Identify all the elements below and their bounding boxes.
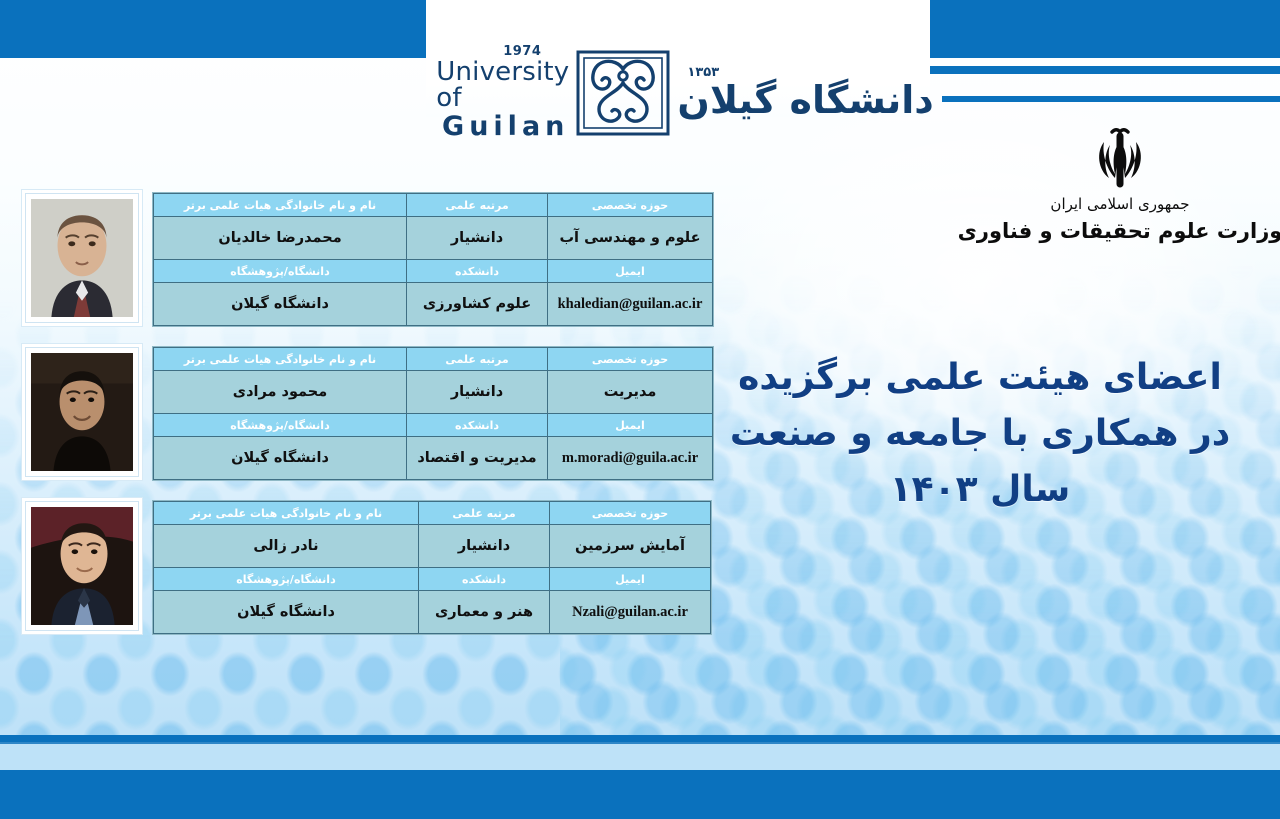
faculty-table: حوزه تخصصی مرتبه علمی نام و نام خانوادگی… [153,501,711,634]
cell-institution: دانشگاه گیلان [154,591,419,634]
header-name: نام و نام خانوادگی هیات علمی برتر [154,348,407,371]
logo-english-text: 1974 University of Guilan [436,45,569,140]
header-faculty: دانشکده [419,568,550,591]
table-row: khaledian@guilan.ac.ir علوم کشاورزی دانش… [154,283,713,326]
cell-field: آمایش سرزمین [550,525,711,568]
header-faculty: دانشکده [407,414,548,437]
table-row: m.moradi@guila.ac.ir مدیریت و اقتصاد دان… [154,437,713,480]
faculty-photo-frame [25,347,139,477]
logo-university-of: University of [436,59,569,111]
table-row: ایمیل دانشکده دانشگاه/پژوهشگاه [154,568,711,591]
cell-field: مدیریت [548,371,713,414]
faculty-photo-frame [25,501,139,631]
cell-faculty: هنر و معماری [419,591,550,634]
header-rank: مرتبه علمی [419,502,550,525]
accent-bar-lower [942,96,1280,102]
header-institution: دانشگاه/پژوهشگاه [154,568,419,591]
iran-national-emblem-icon [1084,128,1156,190]
cell-institution: دانشگاه گیلان [154,283,407,326]
bottom-bar [0,770,1280,819]
page-title-line-2: در همکاری با جامعه و صنعت [720,406,1240,462]
table-row: مدیریت دانشیار محمود مرادی [154,371,713,414]
header-field: حوزه تخصصی [548,194,713,217]
cell-name: محمود مرادی [154,371,407,414]
cell-rank: دانشیار [407,371,548,414]
header-rank: مرتبه علمی [407,348,548,371]
bottom-rule [0,735,1280,742]
cell-name: نادر زالی [154,525,419,568]
header-field: حوزه تخصصی [550,502,711,525]
logo-persian-name: دانشگاه گیلان [677,81,933,119]
cell-faculty: مدیریت و اقتصاد [407,437,548,480]
header-field: حوزه تخصصی [548,348,713,371]
table-row: حوزه تخصصی مرتبه علمی نام و نام خانوادگی… [154,502,711,525]
table-row: حوزه تخصصی مرتبه علمی نام و نام خانوادگی… [154,348,713,371]
ministry-line-1: جمهوری اسلامی ایران [1050,195,1189,213]
cell-rank: دانشیار [419,525,550,568]
table-row: آمایش سرزمین دانشیار نادر زالی [154,525,711,568]
table-row: Nzali@guilan.ac.ir هنر و معماری دانشگاه … [154,591,711,634]
ministry-line-2: وزارت علوم تحقیقات و فناوری [958,219,1280,243]
header-rank: مرتبه علمی [407,194,548,217]
university-logo: 1974 University of Guilan ۱۳۵۳ دانشگاه گ… [470,40,900,145]
table-row: ایمیل دانشکده دانشگاه/پژوهشگاه [154,414,713,437]
faculty-card: حوزه تخصصی مرتبه علمی نام و نام خانوادگی… [25,501,711,634]
bottom-rule-secondary [0,742,1280,744]
ministry-emblem-block: جمهوری اسلامی ایران وزارت علوم تحقیقات و… [986,128,1254,243]
page-title-line-3: سال ۱۴۰۳ [720,462,1240,518]
table-row: علوم و مهندسی آب دانشیار محمدرضا خالدیان [154,217,713,260]
cell-faculty: علوم کشاورزی [407,283,548,326]
faculty-card: حوزه تخصصی مرتبه علمی نام و نام خانوادگی… [25,193,713,326]
cell-rank: دانشیار [407,217,548,260]
accent-bar-upper [930,66,1280,74]
faculty-card: حوزه تخصصی مرتبه علمی نام و نام خانوادگی… [25,347,713,480]
faculty-table: حوزه تخصصی مرتبه علمی نام و نام خانوادگی… [153,347,713,480]
cell-email[interactable]: m.moradi@guila.ac.ir [548,437,713,480]
table-row: ایمیل دانشکده دانشگاه/پژوهشگاه [154,260,713,283]
header-email: ایمیل [548,260,713,283]
page-title-line-1: اعضای هیئت علمی برگزیده [720,350,1240,406]
poster-canvas: 1974 University of Guilan ۱۳۵۳ دانشگاه گ… [0,0,1280,819]
cell-name: محمدرضا خالدیان [154,217,407,260]
header-faculty: دانشکده [407,260,548,283]
photo-mahmoud-moradi [31,353,133,471]
header-name: نام و نام خانوادگی هیات علمی برتر [154,502,419,525]
cell-field: علوم و مهندسی آب [548,217,713,260]
header-institution: دانشگاه/پژوهشگاه [154,260,407,283]
header-email: ایمیل [550,568,711,591]
cell-email[interactable]: Nzali@guilan.ac.ir [550,591,711,634]
header-institution: دانشگاه/پژوهشگاه [154,414,407,437]
photo-nader-zali [31,507,133,625]
cell-institution: دانشگاه گیلان [154,437,407,480]
photo-mohammadreza-khaledian [31,199,133,317]
logo-persian-text: ۱۳۵۳ دانشگاه گیلان [677,66,933,119]
table-row: حوزه تخصصی مرتبه علمی نام و نام خانوادگی… [154,194,713,217]
faculty-table: حوزه تخصصی مرتبه علمی نام و نام خانوادگی… [153,193,713,326]
faculty-photo-frame [25,193,139,323]
top-bar-left [0,0,426,58]
page-title: اعضای هیئت علمی برگزیده در همکاری با جام… [720,350,1240,517]
header-email: ایمیل [548,414,713,437]
header-name: نام و نام خانوادگی هیات علمی برتر [154,194,407,217]
guilan-university-emblem-icon [575,49,671,137]
logo-guilan: Guilan [442,113,569,140]
cell-email[interactable]: khaledian@guilan.ac.ir [548,283,713,326]
top-bar-right [930,0,1280,58]
